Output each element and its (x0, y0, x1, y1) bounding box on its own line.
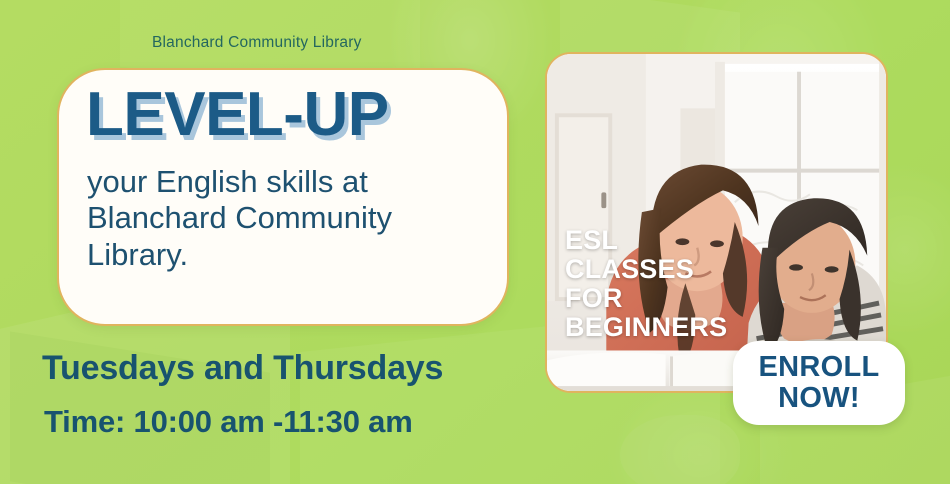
photo-overlay-heading: ESL CLASSES FOR BEGINNERS (565, 226, 727, 342)
page-title: LEVEL-UP (86, 84, 389, 146)
schedule-time: Time: 10:00 am -11:30 am (44, 404, 413, 440)
enroll-now-label: ENROLL NOW! (758, 352, 879, 415)
schedule-days: Tuesdays and Thursdays (42, 349, 443, 388)
poster-canvas: Blanchard Community Library LEVEL-UP you… (0, 0, 950, 484)
organization-name: Blanchard Community Library (152, 34, 362, 52)
enroll-now-button[interactable]: ENROLL NOW! (733, 341, 905, 425)
background-facet (620, 415, 740, 484)
subtitle-text: your English skills at Blanchard Communi… (87, 164, 487, 273)
headline-card: LEVEL-UP your English skills at Blanchar… (57, 68, 509, 326)
